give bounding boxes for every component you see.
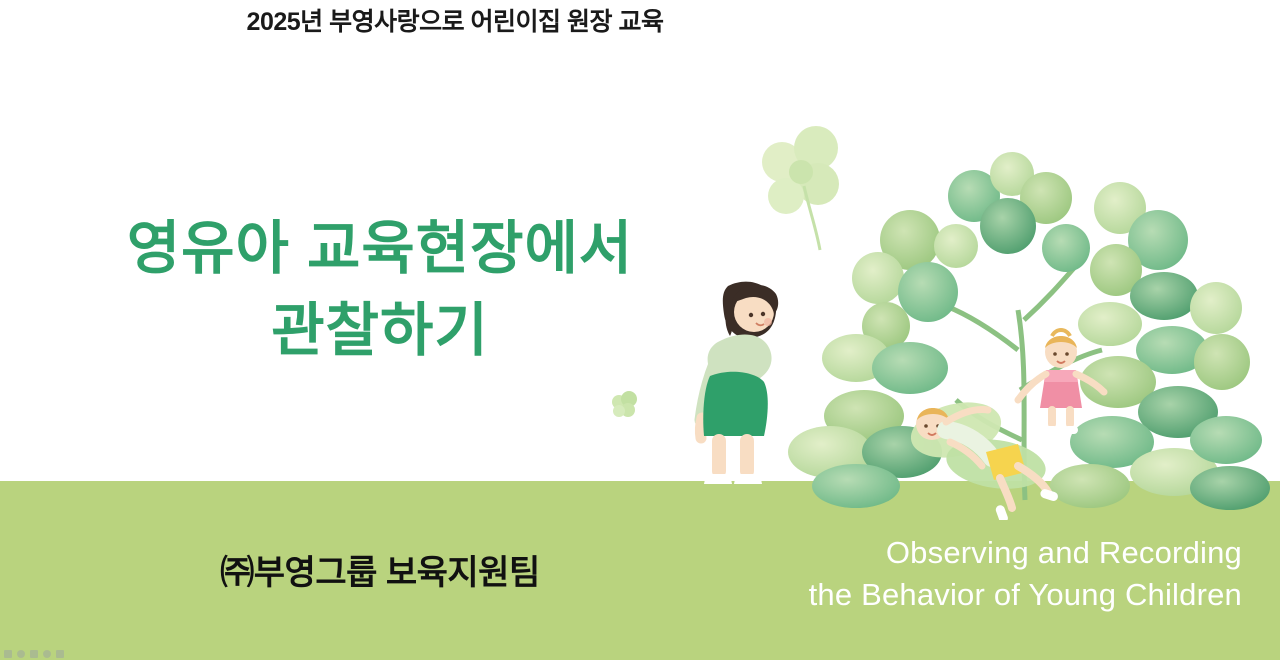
english-subtitle: Observing and Recording the Behavior of …	[722, 532, 1242, 615]
taskbar-mark-1[interactable]	[4, 650, 12, 658]
taskbar-mark-5[interactable]	[56, 650, 64, 658]
garden-illustration	[760, 100, 1280, 520]
taskbar-mark-2[interactable]	[17, 650, 25, 658]
child-pink-dress	[1018, 330, 1104, 434]
taskbar-mark-4[interactable]	[43, 650, 51, 658]
clover-icon	[762, 126, 839, 250]
main-title-line-1: 영유아 교육현장에서	[127, 216, 633, 281]
organization-name: ㈜부영그룹 보육지원팀	[120, 545, 640, 594]
small-leaf-icon	[610, 390, 640, 420]
main-title-line-2: 관찰하기	[30, 290, 730, 372]
taskbar-mark-3[interactable]	[30, 650, 38, 658]
main-title: 영유아 교육현장에서 관찰하기	[30, 208, 730, 373]
taskbar-marks	[4, 650, 64, 658]
english-subtitle-line-2: the Behavior of Young Children	[722, 574, 1242, 616]
page-title: 2025년 부영사랑으로 어린이집 원장 교육	[0, 2, 910, 38]
bush-foliage	[788, 152, 1270, 510]
slide-canvas: 2025년 부영사랑으로 어린이집 원장 교육	[0, 0, 1280, 660]
english-subtitle-line-1: Observing and Recording	[886, 535, 1242, 570]
